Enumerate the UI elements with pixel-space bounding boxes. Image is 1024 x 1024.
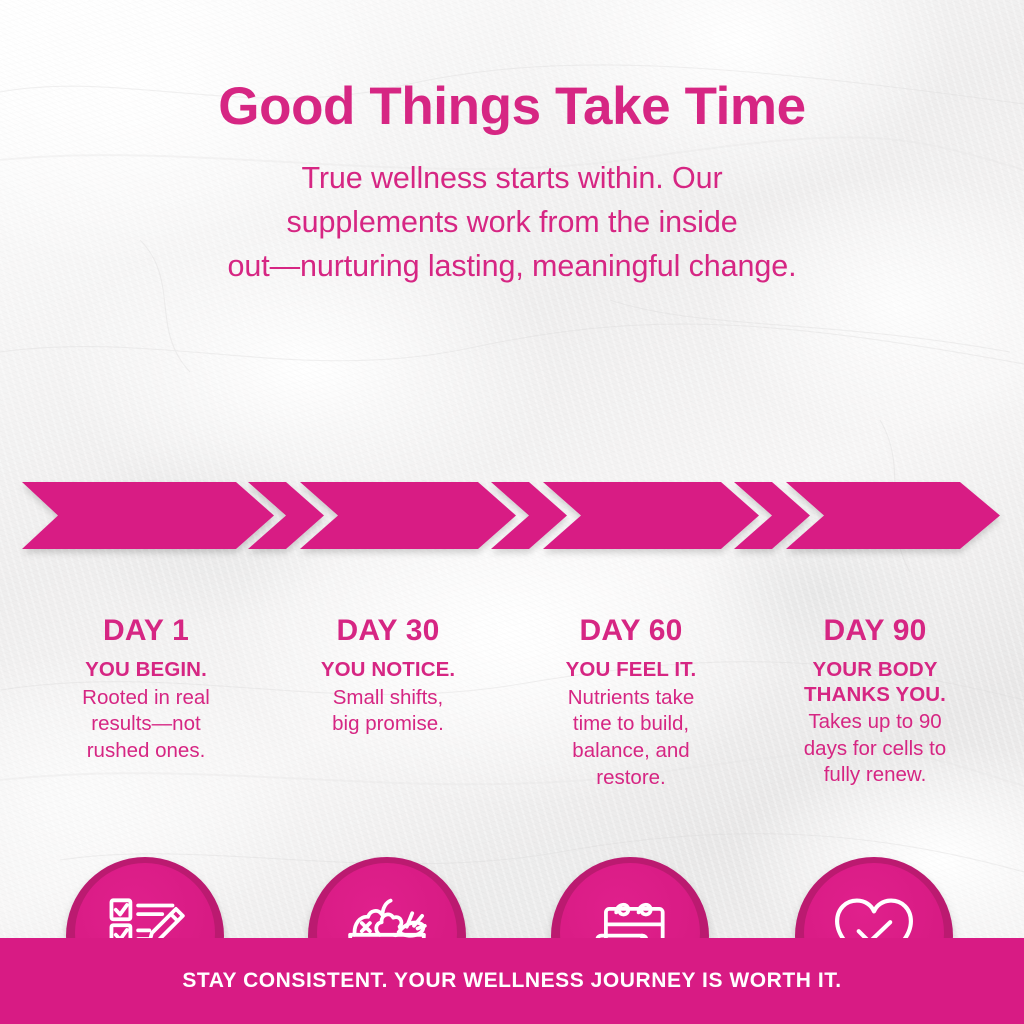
page-subtitle: True wellness starts within. Our supplem… xyxy=(0,157,1024,289)
step-body-line: rushed ones. xyxy=(26,738,266,765)
header: Good Things Take Time True wellness star… xyxy=(0,78,1024,289)
timeline-step-3-caption: DAY 60 YOU FEEL IT. Nutrients take time … xyxy=(511,614,751,791)
step-body-line: balance, and xyxy=(511,738,751,765)
timeline-step-1-caption: DAY 1 YOU BEGIN. Rooted in real results—… xyxy=(26,614,266,765)
step-body-line: big promise. xyxy=(268,711,508,738)
band-segment-1 xyxy=(22,482,274,549)
step-day-label: DAY 1 xyxy=(26,614,266,647)
band-segment-3 xyxy=(543,482,759,549)
step-lead-label: YOUR BODY THANKS YOU. xyxy=(755,658,995,707)
footer-banner: STAY CONSISTENT. YOUR WELLNESS JOURNEY I… xyxy=(0,938,1024,1024)
footer-text: STAY CONSISTENT. YOUR WELLNESS JOURNEY I… xyxy=(182,969,841,993)
subtitle-line-3: out—nurturing lasting, meaningful change… xyxy=(0,245,1024,289)
step-day-label: DAY 90 xyxy=(755,614,995,647)
chevron-band xyxy=(0,420,1024,620)
step-body-line: Rooted in real xyxy=(26,685,266,712)
timeline-captions: DAY 1 YOU BEGIN. Rooted in real results—… xyxy=(0,614,1024,854)
step-lead-label: YOU FEEL IT. xyxy=(511,658,751,683)
timeline xyxy=(0,420,1024,620)
subtitle-line-1: True wellness starts within. Our xyxy=(0,157,1024,201)
step-body-text: Rooted in real results—not rushed ones. xyxy=(26,685,266,765)
step-lead-line: YOUR BODY xyxy=(755,658,995,683)
step-body-text: Takes up to 90 days for cells to fully r… xyxy=(755,709,995,789)
step-body-line: results—not xyxy=(26,711,266,738)
step-body-line: Nutrients take xyxy=(511,685,751,712)
page-title: Good Things Take Time xyxy=(0,78,1024,135)
step-lead-line: THANKS YOU. xyxy=(755,683,995,708)
step-day-label: DAY 30 xyxy=(268,614,508,647)
timeline-step-2-caption: DAY 30 YOU NOTICE. Small shifts, big pro… xyxy=(268,614,508,738)
timeline-step-4-caption: DAY 90 YOUR BODY THANKS YOU. Takes up to… xyxy=(755,614,995,789)
step-body-line: Small shifts, xyxy=(268,685,508,712)
step-body-line: restore. xyxy=(511,765,751,792)
step-body-line: days for cells to xyxy=(755,736,995,763)
step-lead-label: YOU NOTICE. xyxy=(268,658,508,683)
subtitle-line-2: supplements work from the inside xyxy=(0,201,1024,245)
step-body-text: Small shifts, big promise. xyxy=(268,685,508,738)
step-body-text: Nutrients take time to build, balance, a… xyxy=(511,685,751,792)
band-segment-2 xyxy=(300,482,516,549)
step-body-line: fully renew. xyxy=(755,762,995,789)
step-day-label: DAY 60 xyxy=(511,614,751,647)
step-body-line: time to build, xyxy=(511,711,751,738)
step-body-line: Takes up to 90 xyxy=(755,709,995,736)
band-segment-4 xyxy=(786,482,1000,549)
step-lead-label: YOU BEGIN. xyxy=(26,658,266,683)
